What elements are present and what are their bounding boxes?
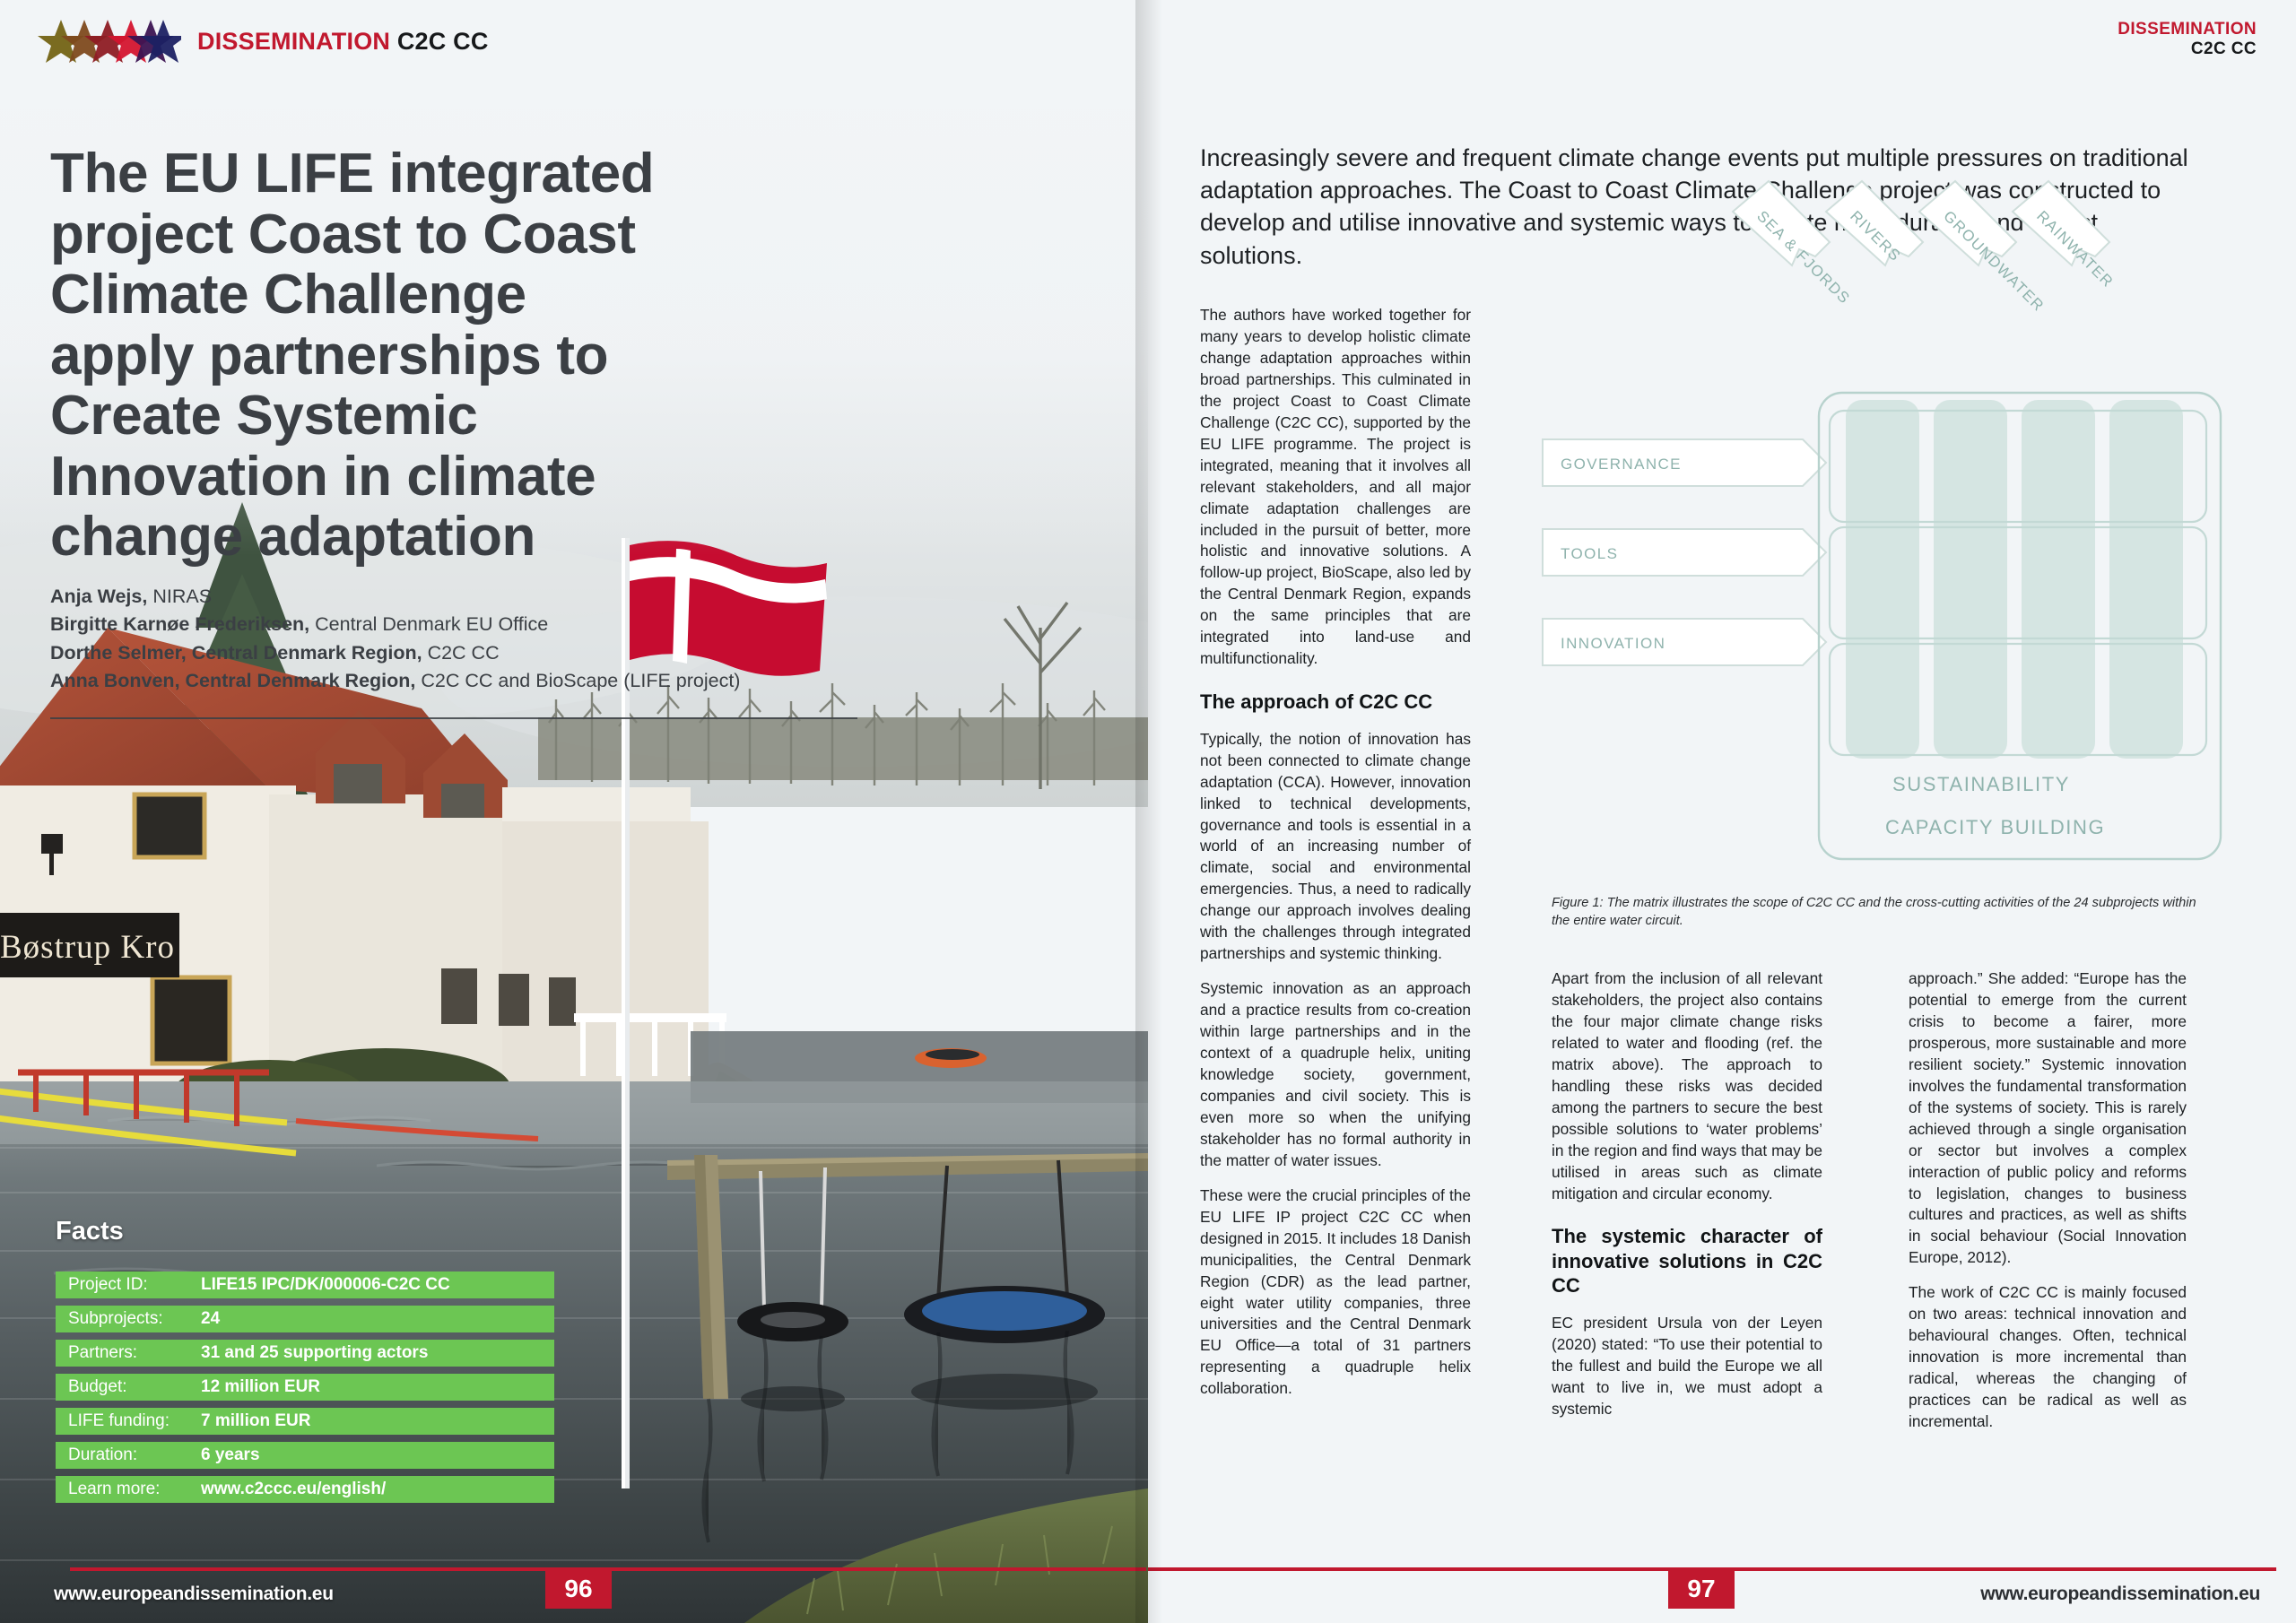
paragraph: EC president Ursula von der Leyen (2020)… [1552, 1313, 1822, 1420]
svg-text:TOOLS: TOOLS [1561, 545, 1618, 562]
page-number-left: 96 [545, 1569, 612, 1609]
author-byline: Anja Wejs, NIRAS Birgitte Karnøe Frederi… [50, 583, 822, 696]
author-line: Anna Bonven, Central Denmark Region, C2C… [50, 667, 822, 695]
paragraph: These were the crucial principles of the… [1200, 1185, 1471, 1401]
author-affiliation: NIRAS [152, 586, 212, 607]
facts-row-learn-more: Learn more: www.c2ccc.eu/english/ [56, 1476, 554, 1503]
running-head-left: DISSEMINATION C2C CC [38, 18, 489, 65]
section-heading-approach: The approach of C2C CC [1200, 690, 1471, 715]
facts-value-link[interactable]: www.c2ccc.eu/english/ [201, 1480, 386, 1499]
facts-row: LIFE funding: 7 million EUR [56, 1408, 554, 1435]
author-line: Birgitte Karnøe Frederiksen, Central Den… [50, 611, 822, 638]
footer-url-right[interactable]: www.europeandissemination.eu [1980, 1584, 2260, 1605]
side-arrow-governance: GOVERNANCE [1543, 439, 1826, 486]
running-head-c2c: C2C CC [2118, 39, 2257, 59]
paragraph: Typically, the notion of innovation has … [1200, 729, 1471, 965]
facts-value: 12 million EUR [201, 1377, 320, 1397]
facts-key: Learn more: [68, 1480, 201, 1499]
body-column-b: Apart from the inclusion of all relevant… [1552, 968, 1822, 1434]
side-arrow-tools: TOOLS [1543, 529, 1826, 576]
facts-key: Budget: [68, 1377, 201, 1397]
running-head-right: DISSEMINATION C2C CC [2118, 20, 2257, 60]
magazine-spread: Bøstrup Kro [0, 0, 2296, 1623]
facts-row: Partners: 31 and 25 supporting actors [56, 1340, 554, 1367]
paragraph: approach.” She added: “Europe has the po… [1909, 968, 2187, 1269]
section-heading-systemic-character: The systemic character of innovative sol… [1552, 1224, 1822, 1298]
author-affiliation: Central Denmark EU Office [315, 613, 548, 635]
page-number-right: 97 [1668, 1569, 1735, 1609]
author-line: Anja Wejs, NIRAS [50, 583, 822, 611]
page-right: DISSEMINATION C2C CC Increasingly severe… [1148, 0, 2296, 1623]
figure-caption: Figure 1: The matrix illustrates the sco… [1552, 895, 2206, 930]
facts-row: Duration: 6 years [56, 1442, 554, 1469]
paragraph: The authors have worked together for man… [1200, 305, 1471, 670]
facts-heading: Facts [56, 1217, 124, 1246]
author-name: Dorthe Selmer, Central Denmark Region, [50, 642, 422, 664]
svg-text:GOVERNANCE: GOVERNANCE [1561, 456, 1682, 473]
author-line: Dorthe Selmer, Central Denmark Region, C… [50, 639, 822, 667]
matrix-footer-sustainability: SUSTAINABILITY [1892, 773, 2070, 795]
body-column-c: approach.” She added: “Europe has the po… [1909, 968, 2187, 1446]
facts-key: Subprojects: [68, 1309, 201, 1329]
five-star-gradient-logo [38, 18, 181, 65]
footer-url-left[interactable]: www.europeandissemination.eu [54, 1584, 334, 1605]
side-arrow-innovation: INNOVATION [1543, 619, 1826, 665]
page-left: Bøstrup Kro [0, 0, 1148, 1623]
facts-value: LIFE15 IPC/DK/000006-C2C CC [201, 1275, 450, 1295]
paragraph: Apart from the inclusion of all relevant… [1552, 968, 1822, 1204]
author-name: Anna Bonven, Central Denmark Region, [50, 670, 415, 691]
facts-row: Budget: 12 million EUR [56, 1374, 554, 1401]
page-title: The EU LIFE integrated project Coast to … [50, 143, 669, 568]
svg-text:INNOVATION: INNOVATION [1561, 635, 1665, 652]
facts-row: Subprojects: 24 [56, 1306, 554, 1332]
facts-value: 24 [201, 1309, 220, 1329]
facts-key: Project ID: [68, 1275, 201, 1295]
top-arrow-sea-fjords: SEA & FJORDS [1733, 181, 1854, 308]
running-head-c2c: C2C CC [397, 28, 489, 55]
figure-matrix-diagram: .ar { fill:#ffffff; stroke:#cfdedb; stro… [1534, 170, 2224, 879]
byline-divider [50, 717, 857, 719]
running-head-dissemination: DISSEMINATION [2118, 20, 2257, 39]
paragraph: The work of C2C CC is mainly focused on … [1909, 1282, 2187, 1433]
matrix-footer-capacity-building: CAPACITY BUILDING [1885, 816, 2105, 838]
author-affiliation: C2C CC and BioScape (LIFE project) [421, 670, 740, 691]
facts-value: 7 million EUR [201, 1411, 310, 1431]
top-arrow-rainwater: RAINWATER [2013, 181, 2117, 291]
running-head-text: DISSEMINATION C2C CC [197, 28, 489, 56]
top-arrow-rivers: RIVERS [1826, 181, 1923, 265]
facts-key: LIFE funding: [68, 1411, 201, 1431]
facts-key: Duration: [68, 1445, 201, 1465]
body-column-a: The authors have worked together for man… [1200, 305, 1471, 1413]
author-affiliation: C2C CC [428, 642, 500, 664]
facts-table: Project ID: LIFE15 IPC/DK/000006-C2C CC … [56, 1271, 554, 1510]
facts-value: 31 and 25 supporting actors [201, 1343, 428, 1363]
running-head-dissemination: DISSEMINATION [197, 28, 390, 55]
author-name: Birgitte Karnøe Frederiksen, [50, 613, 309, 635]
author-name: Anja Wejs, [50, 586, 147, 607]
facts-row: Project ID: LIFE15 IPC/DK/000006-C2C CC [56, 1271, 554, 1298]
facts-value: 6 years [201, 1445, 260, 1465]
facts-key: Partners: [68, 1343, 201, 1363]
paragraph: Systemic innovation as an approach and a… [1200, 978, 1471, 1172]
svg-text:Bøstrup Kro: Bøstrup Kro [0, 929, 175, 966]
